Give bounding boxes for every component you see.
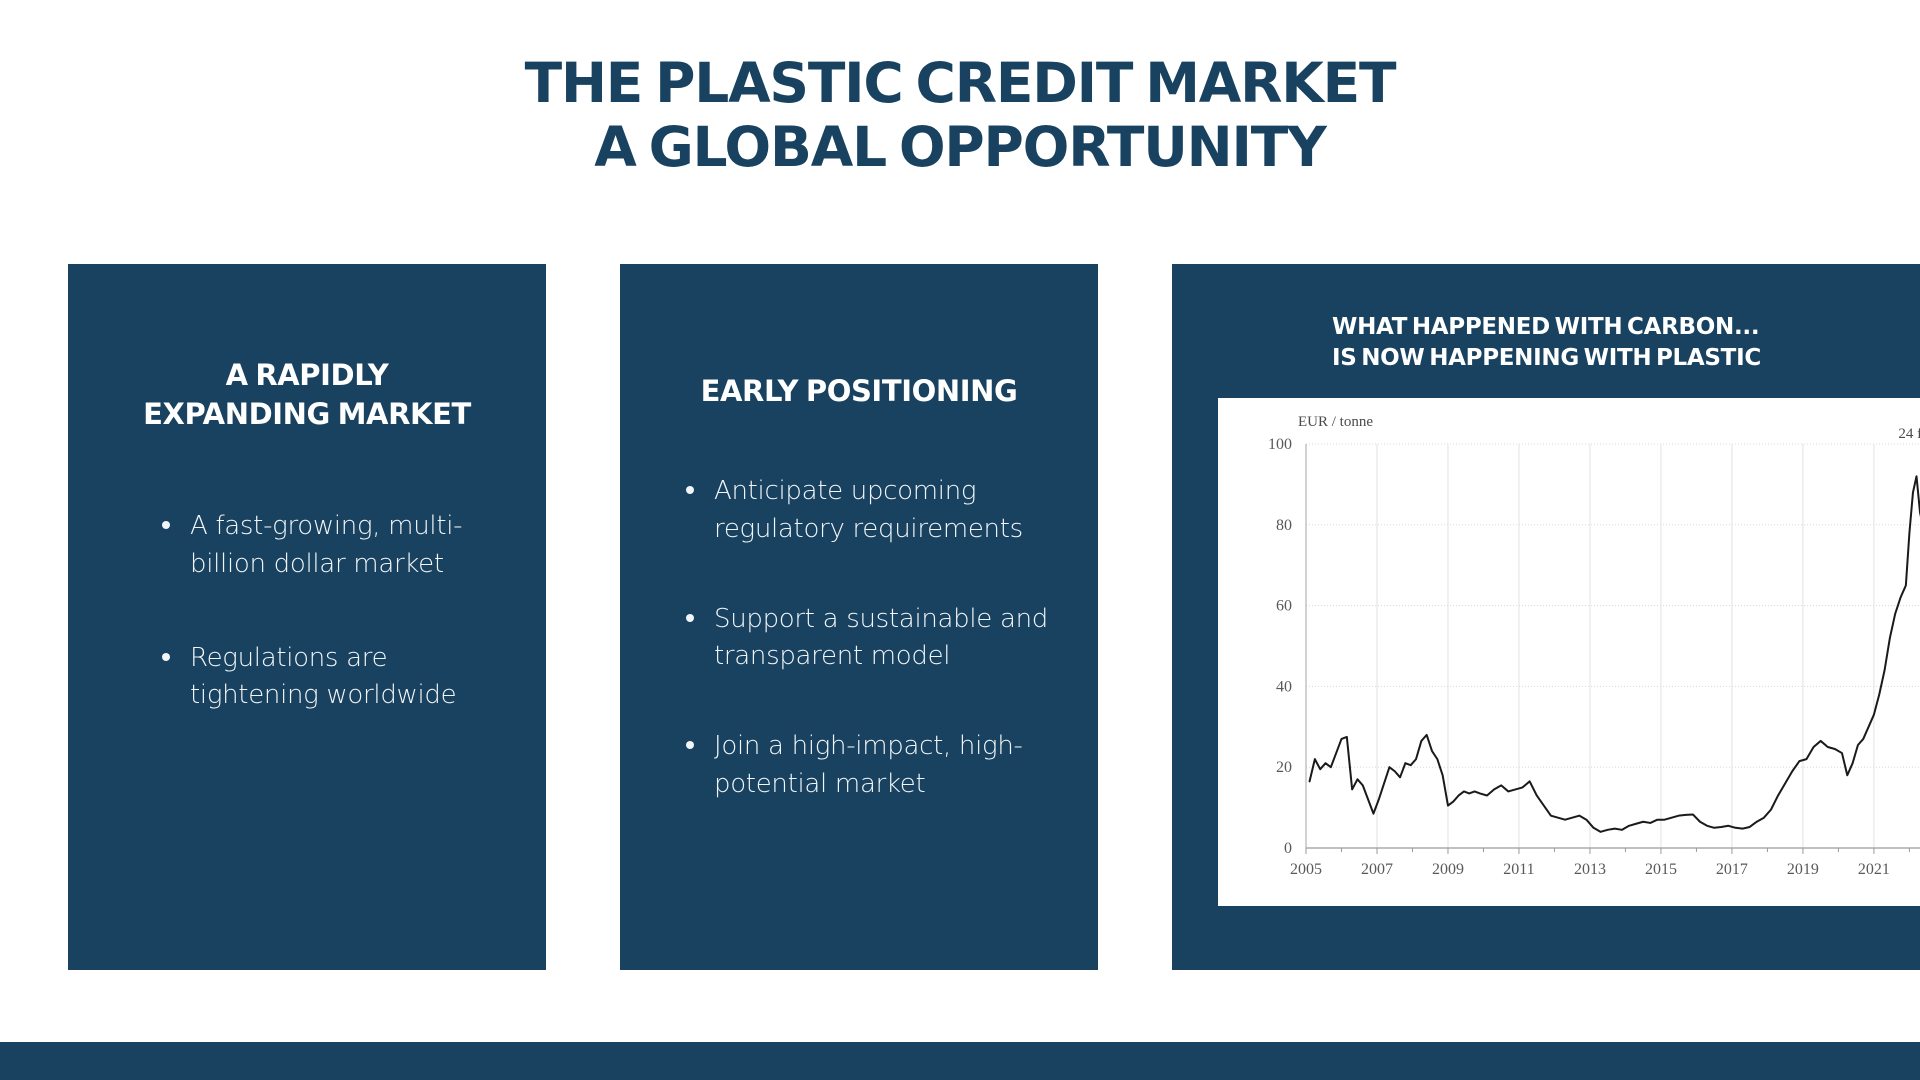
bullet-dot-icon bbox=[686, 614, 694, 622]
svg-text:EUR / tonne: EUR / tonne bbox=[1298, 414, 1373, 430]
list-item-label: Regulations are tightening worldwide bbox=[190, 643, 456, 711]
svg-text:2015: 2015 bbox=[1645, 861, 1677, 878]
svg-text:2021: 2021 bbox=[1858, 861, 1890, 878]
title-line-1: THE PLASTIC CREDIT MARKET bbox=[0, 52, 1920, 116]
list-item-label: Join a high-impact, high-potential marke… bbox=[714, 731, 1023, 799]
list-item: Support a sustainable and transparent mo… bbox=[682, 601, 1050, 676]
page-title: THE PLASTIC CREDIT MARKET A GLOBAL OPPOR… bbox=[0, 52, 1920, 180]
list-item-label: Anticipate upcoming regulatory requireme… bbox=[714, 476, 1023, 544]
footer-bar bbox=[0, 1042, 1920, 1080]
card-rapidly-expanding-market: A RAPIDLY EXPANDING MARKET A fast-growin… bbox=[68, 264, 546, 970]
card-2-bullet-list: Anticipate upcoming regulatory requireme… bbox=[620, 473, 1098, 803]
svg-text:2007: 2007 bbox=[1361, 861, 1393, 878]
card-3-heading-line-2: IS NOW HAPPENING WITH PLASTIC bbox=[1332, 343, 1920, 374]
svg-text:2005: 2005 bbox=[1290, 861, 1322, 878]
card-carbon-chart: WHAT HAPPENED WITH CARBON... IS NOW HAPP… bbox=[1172, 264, 1920, 970]
list-item-label: Support a sustainable and transparent mo… bbox=[714, 604, 1048, 672]
list-item: Regulations are tightening worldwide bbox=[158, 640, 494, 715]
slide-root: THE PLASTIC CREDIT MARKET A GLOBAL OPPOR… bbox=[0, 0, 1920, 1080]
bullet-dot-icon bbox=[686, 486, 694, 494]
card-2-heading: EARLY POSITIONING bbox=[620, 372, 1098, 411]
card-1-bullet-list: A fast-growing, multi-billion dollar mar… bbox=[68, 508, 546, 715]
bullet-dot-icon bbox=[162, 653, 170, 661]
bullet-dot-icon bbox=[686, 741, 694, 749]
list-item: Join a high-impact, high-potential marke… bbox=[682, 728, 1050, 803]
list-item: Anticipate upcoming regulatory requireme… bbox=[682, 473, 1050, 548]
svg-text:40: 40 bbox=[1276, 678, 1292, 695]
card-3-heading: WHAT HAPPENED WITH CARBON... IS NOW HAPP… bbox=[1172, 312, 1920, 374]
svg-text:24 févr.: 24 févr. bbox=[1898, 426, 1920, 442]
carbon-price-chart-svg: EUR / tonne02040608010020052007200920112… bbox=[1218, 398, 1920, 906]
card-1-heading: A RAPIDLY EXPANDING MARKET bbox=[68, 356, 546, 434]
title-line-2: A GLOBAL OPPORTUNITY bbox=[0, 116, 1920, 180]
svg-text:100: 100 bbox=[1268, 436, 1292, 453]
svg-text:2013: 2013 bbox=[1574, 861, 1606, 878]
svg-text:60: 60 bbox=[1276, 598, 1292, 615]
svg-text:0: 0 bbox=[1284, 840, 1292, 857]
svg-text:20: 20 bbox=[1276, 759, 1292, 776]
card-early-positioning: EARLY POSITIONING Anticipate upcoming re… bbox=[620, 264, 1098, 970]
svg-text:2017: 2017 bbox=[1716, 861, 1748, 878]
carbon-price-chart: EUR / tonne02040608010020052007200920112… bbox=[1218, 398, 1920, 906]
svg-text:80: 80 bbox=[1276, 517, 1292, 534]
cards-row: A RAPIDLY EXPANDING MARKET A fast-growin… bbox=[0, 264, 1920, 970]
list-item: A fast-growing, multi-billion dollar mar… bbox=[158, 508, 494, 583]
list-item-label: A fast-growing, multi-billion dollar mar… bbox=[190, 511, 462, 579]
card-3-heading-line-1: WHAT HAPPENED WITH CARBON... bbox=[1332, 312, 1920, 343]
svg-text:2009: 2009 bbox=[1432, 861, 1464, 878]
bullet-dot-icon bbox=[162, 521, 170, 529]
svg-text:2011: 2011 bbox=[1503, 861, 1534, 878]
svg-text:2019: 2019 bbox=[1787, 861, 1819, 878]
